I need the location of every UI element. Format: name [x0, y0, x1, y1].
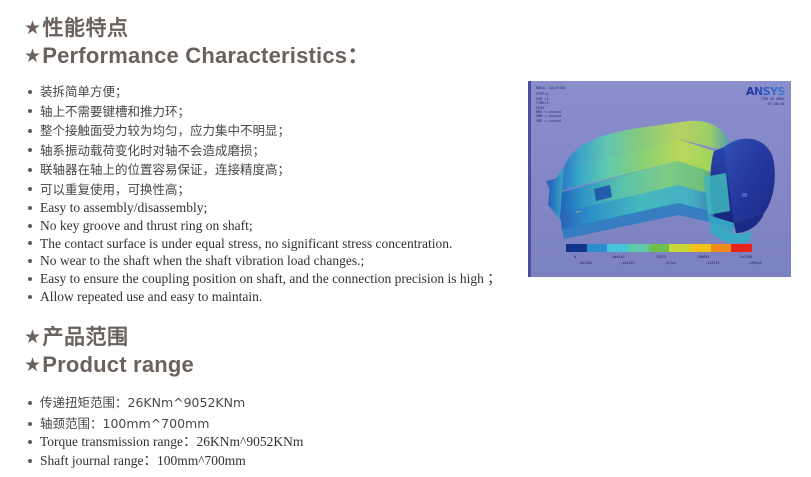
legend-labels-bottom: .01118x .pxx147 .1(2x1 .212273 .296yx1: [564, 261, 776, 265]
list-item: 轴系振动载荷变化时对轴不会造成磨损；: [26, 141, 290, 161]
legend-label: .8ex1x3: [596, 255, 638, 259]
legend-band: [649, 244, 670, 252]
performance-heading-en: ★Performance Characteristics：: [24, 42, 369, 71]
product-range-heading-group: ★产品范围 ★Product range: [24, 325, 194, 380]
legend-band: [711, 244, 732, 252]
legend-label: .pxx147: [606, 261, 648, 265]
list-item: Easy to ensure the coupling position on …: [26, 270, 501, 288]
list-item: The contact surface is under equal stres…: [26, 235, 501, 253]
performance-heading-group: ★性能特点 ★Performance Characteristics：: [24, 16, 369, 71]
list-item: Allow repeated use and easy to maintain.: [26, 288, 501, 306]
product-range-heading-en-text: Product range: [42, 352, 194, 377]
legend-band: [628, 244, 649, 252]
legend-labels-top: 0 .8ex1x3 .13173 .199895 .2x3438: [554, 255, 766, 259]
legend-band: [731, 244, 752, 252]
legend-band: [587, 244, 608, 252]
list-item: 轴上不需要键槽和推力环；: [26, 102, 290, 122]
product-range-bullets-en: Torque transmission range：26KNm^9052KNm …: [26, 432, 303, 470]
stress-color-legend: [566, 244, 752, 252]
star-icon: ★: [24, 16, 42, 42]
fea-stress-analysis-image: NODAL SOLUTION STEP=1 SUB =1 TIME=1 SEQV…: [528, 81, 791, 277]
performance-bullets-cn: 装拆简单方便； 轴上不需要键槽和推力环； 整个接触面受力较为均匀，应力集中不明显…: [26, 82, 290, 199]
list-item: No key groove and thrust ring on shaft;: [26, 217, 501, 235]
list-item: No wear to the shaft when the shaft vibr…: [26, 252, 501, 270]
performance-heading-cn-text: 性能特点: [43, 17, 129, 40]
legend-label: .01118x: [564, 261, 606, 265]
product-range-heading-en: ★Product range: [24, 351, 194, 380]
product-range-bullets-cn: 传递扭矩范围：26KNm^9052KNm 轴颈范围：100mm^700mm: [26, 392, 245, 434]
list-item: 传递扭矩范围：26KNm^9052KNm: [26, 392, 245, 413]
list-item: 整个接触面受力较为均匀，应力集中不明显；: [26, 121, 290, 141]
performance-heading-cn: ★性能特点: [24, 16, 369, 42]
star-icon: ★: [24, 43, 41, 71]
legend-label: 0: [554, 255, 596, 259]
list-item: 轴颈范围：100mm^700mm: [26, 413, 245, 434]
coordinate-axis-icon: ⌐: [576, 209, 581, 216]
performance-bullets-en: Easy to assembly/disassembly; No key gro…: [26, 199, 501, 306]
legend-label: .1(2x1: [649, 261, 691, 265]
product-range-heading-cn-text: 产品范围: [43, 326, 129, 349]
legend-band: [607, 244, 628, 252]
list-item: 可以重复使用，可换性高；: [26, 180, 290, 200]
legend-band: [690, 244, 711, 252]
legend-label: .296yx1: [734, 261, 776, 265]
legend-label: .2x3438: [724, 255, 766, 259]
legend-label: .13173: [639, 255, 681, 259]
legend-label: .199895: [681, 255, 723, 259]
legend-band: [669, 244, 690, 252]
star-icon: ★: [24, 325, 42, 351]
legend-label: .212273: [691, 261, 733, 265]
list-item: Torque transmission range：26KNm^9052KNm: [26, 432, 303, 451]
list-item: 装拆简单方便；: [26, 82, 290, 102]
list-item: 联轴器在轴上的位置容易保证，连接精度高；: [26, 160, 290, 180]
performance-heading-en-text: Performance Characteristics：: [42, 43, 369, 68]
page-root: ★性能特点 ★Performance Characteristics： 装拆简单…: [0, 0, 811, 477]
star-icon: ★: [24, 352, 41, 380]
list-item: Easy to assembly/disassembly;: [26, 199, 501, 217]
list-item: Shaft journal range：100mm^700mm: [26, 451, 303, 470]
product-range-heading-cn: ★产品范围: [24, 325, 194, 351]
legend-band: [566, 244, 587, 252]
